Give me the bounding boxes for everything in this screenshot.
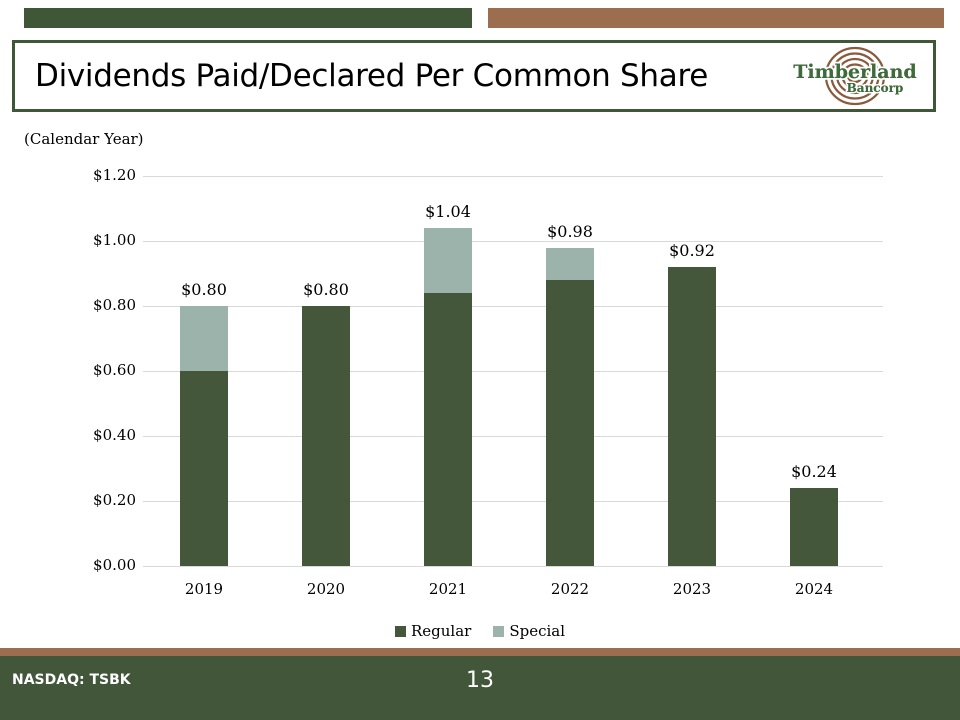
bar-segment-special	[424, 228, 472, 293]
gridline	[143, 566, 883, 567]
legend-label-regular: Regular	[411, 622, 471, 640]
bar-segment-regular	[546, 280, 594, 566]
y-axis-tick-label: $0.60	[60, 361, 136, 379]
legend-item-regular: Regular	[395, 622, 471, 640]
y-axis-tick-label: $0.40	[60, 426, 136, 444]
bar-total-label: $0.24	[759, 462, 869, 481]
gridline	[143, 241, 883, 242]
bar-segment-special	[546, 248, 594, 281]
slide: Dividends Paid/Declared Per Common Share…	[0, 0, 960, 720]
y-axis-tick-label: $0.80	[60, 296, 136, 314]
chart-legend: Regular Special	[0, 622, 960, 640]
page-number: 13	[0, 668, 960, 693]
gridline	[143, 306, 883, 307]
bar-segment-regular	[302, 306, 350, 566]
bar-segment-regular	[424, 293, 472, 566]
bar-segment-regular	[180, 371, 228, 566]
bar-total-label: $1.04	[393, 202, 503, 221]
legend-item-special: Special	[493, 622, 565, 640]
bar-segment-special	[180, 306, 228, 371]
legend-swatch-special	[493, 626, 504, 637]
gridline	[143, 501, 883, 502]
gridline	[143, 436, 883, 437]
legend-label-special: Special	[509, 622, 565, 640]
x-axis-tick-label: 2019	[164, 580, 244, 598]
y-axis-tick-label: $1.00	[60, 231, 136, 249]
x-axis-tick-label: 2023	[652, 580, 732, 598]
x-axis-tick-label: 2021	[408, 580, 488, 598]
gridline	[143, 371, 883, 372]
bar-total-label: $0.98	[515, 222, 625, 241]
y-axis-tick-label: $0.00	[60, 556, 136, 574]
x-axis-tick-label: 2024	[774, 580, 854, 598]
x-axis-tick-label: 2020	[286, 580, 366, 598]
bar-total-label: $0.80	[271, 280, 381, 299]
footer-accent-bar	[0, 648, 960, 656]
bar-segment-regular	[790, 488, 838, 566]
x-axis-tick-label: 2022	[530, 580, 610, 598]
legend-swatch-regular	[395, 626, 406, 637]
y-axis-tick-label: $0.20	[60, 491, 136, 509]
y-axis-tick-label: $1.20	[60, 166, 136, 184]
gridline	[143, 176, 883, 177]
bar-total-label: $0.80	[149, 280, 259, 299]
bar-segment-regular	[668, 267, 716, 566]
dividends-bar-chart: $1.20$1.00$0.80$0.60$0.40$0.20$0.00$0.80…	[0, 0, 960, 650]
bar-total-label: $0.92	[637, 241, 747, 260]
